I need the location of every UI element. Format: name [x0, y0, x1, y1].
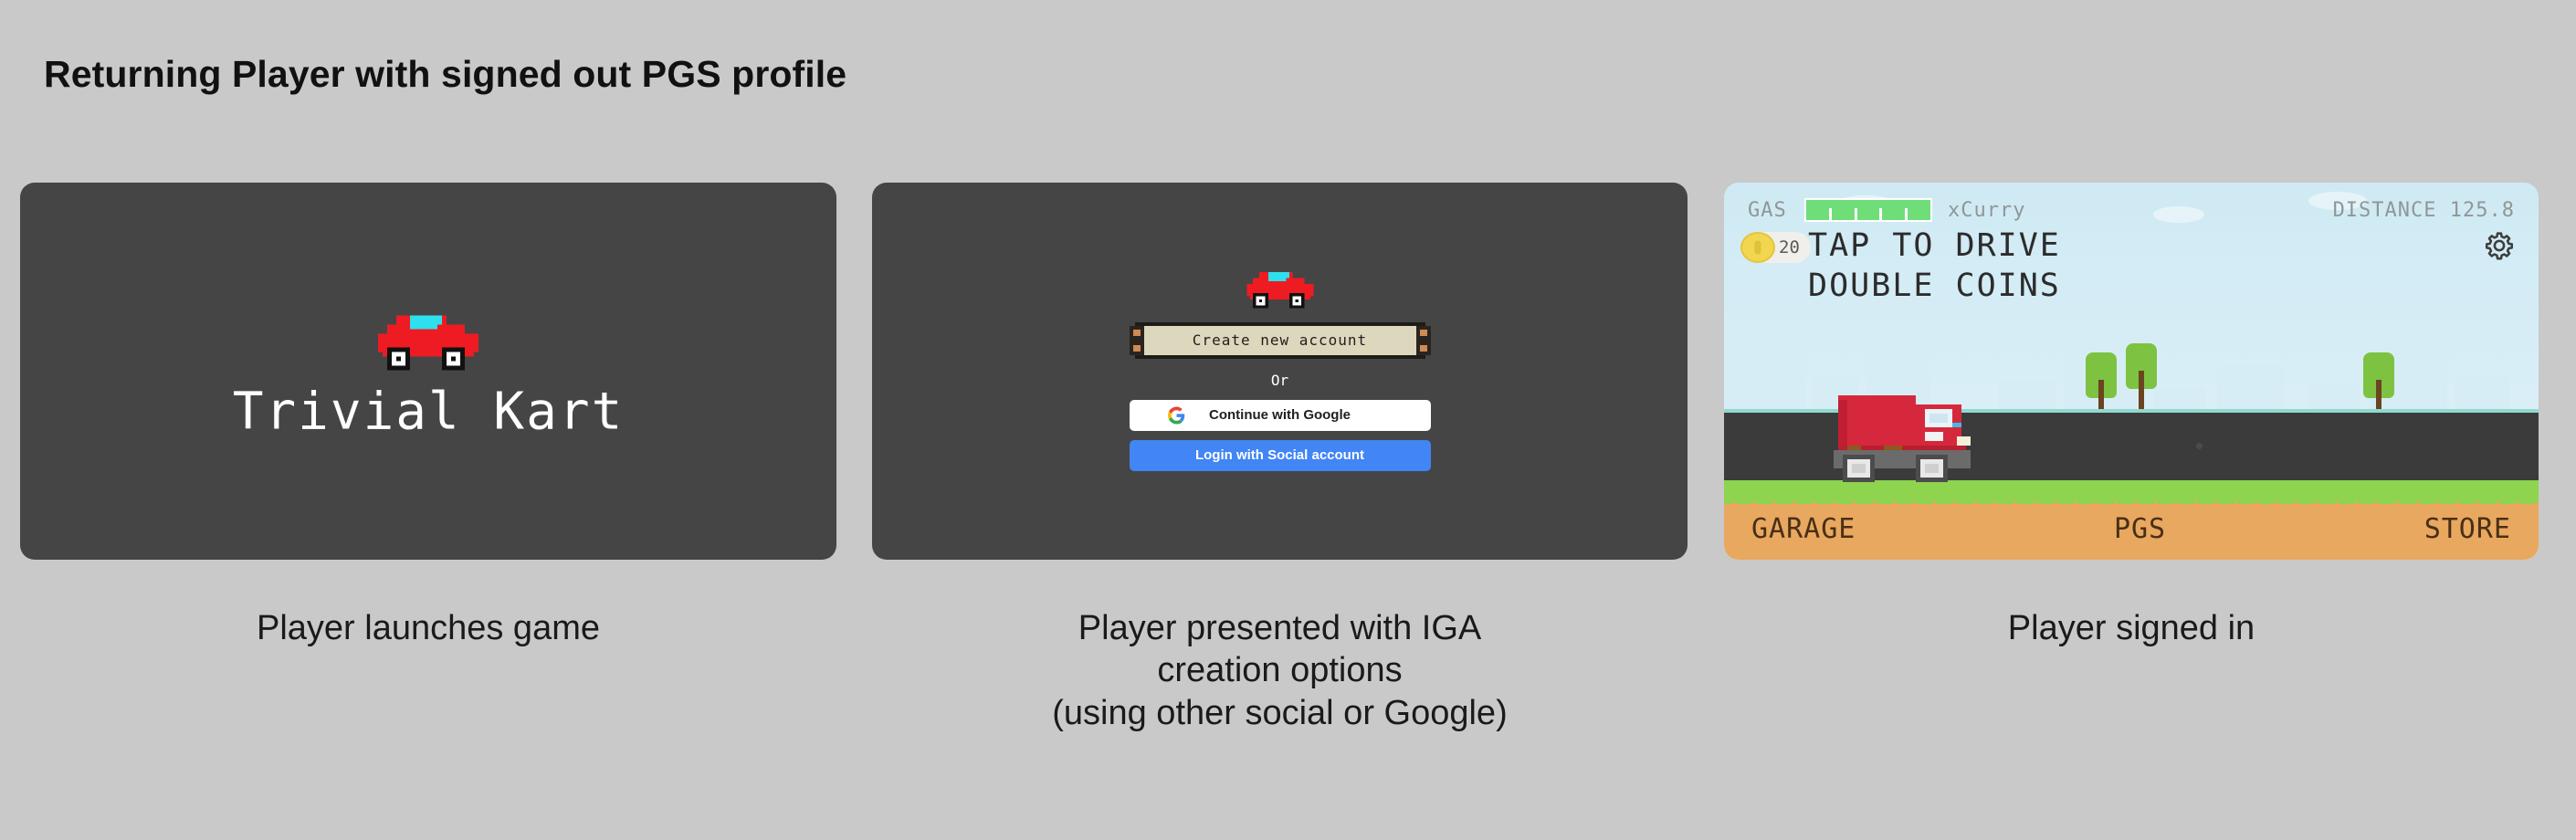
nav-item-pgs[interactable]: PGS: [2114, 513, 2166, 545]
game-title: Trivial Kart: [20, 382, 836, 441]
banner-cap-right-icon: [1416, 326, 1431, 355]
continue-with-google-label: Continue with Google: [1209, 407, 1351, 423]
panel-signed-in: GAS xCurry DISTANCE 125.8 20: [1724, 183, 2539, 649]
tree-icon: [2126, 343, 2157, 418]
nav-item-garage[interactable]: GARAGE: [1751, 513, 1856, 545]
panel-launch: Trivial Kart Player launches game: [20, 183, 836, 649]
game-navbar: GARAGE PGS STORE: [1724, 504, 2539, 560]
nav-item-store[interactable]: STORE: [2424, 513, 2511, 545]
create-account-label: Create new account: [1193, 331, 1367, 349]
banner-cap-left-icon: [1130, 326, 1144, 355]
gameplay-screen: GAS xCurry DISTANCE 125.8 20: [1724, 183, 2539, 560]
panel-caption: Player presented with IGA creation optio…: [872, 607, 1688, 734]
panel-caption: Player launches game: [20, 607, 836, 649]
splash-screen: Trivial Kart: [20, 183, 836, 560]
distance-label: DISTANCE 125.8: [2333, 199, 2515, 222]
tap-to-drive-overlay[interactable]: TAP TO DRIVE DOUBLE COINS: [1808, 226, 2061, 307]
sign-in-dialog-screen: Create new account Or: [872, 183, 1688, 560]
player-truck-icon: [1829, 382, 2003, 482]
continue-with-google-button[interactable]: Continue with Google: [1130, 400, 1431, 431]
create-account-button[interactable]: Create new account: [1130, 320, 1431, 361]
divider-label: Or: [1130, 372, 1431, 389]
tap-line-2: DOUBLE COINS: [1808, 267, 2061, 307]
panel-caption: Player signed in: [1724, 607, 2539, 649]
sign-in-dialog: Create new account Or: [1130, 263, 1431, 480]
pixel-car-icon: [1235, 263, 1326, 311]
gas-label: GAS: [1748, 199, 1787, 222]
create-account-banner: Create new account: [1135, 322, 1425, 359]
gas-gauge: [1804, 198, 1932, 222]
gear-icon[interactable]: [2484, 230, 2515, 261]
splash-content: Trivial Kart: [20, 301, 836, 441]
coin-count: 20: [1779, 237, 1800, 257]
login-with-social-label: Login with Social account: [1195, 447, 1364, 463]
panel-iga-options: Create new account Or: [872, 183, 1688, 734]
login-with-social-button[interactable]: Login with Social account: [1130, 440, 1431, 471]
page-title: Returning Player with signed out PGS pro…: [44, 53, 846, 96]
coin-badge: 20: [1744, 232, 1811, 263]
car-name-label: xCurry: [1948, 199, 2025, 222]
panel-row: Trivial Kart Player launches game: [0, 183, 2576, 749]
pixel-car-icon: [360, 301, 497, 374]
google-g-icon: [1168, 406, 1185, 424]
cloud-icon: [2153, 206, 2204, 223]
coin-icon: [1740, 232, 1775, 263]
tap-line-1: TAP TO DRIVE: [1808, 226, 2061, 267]
